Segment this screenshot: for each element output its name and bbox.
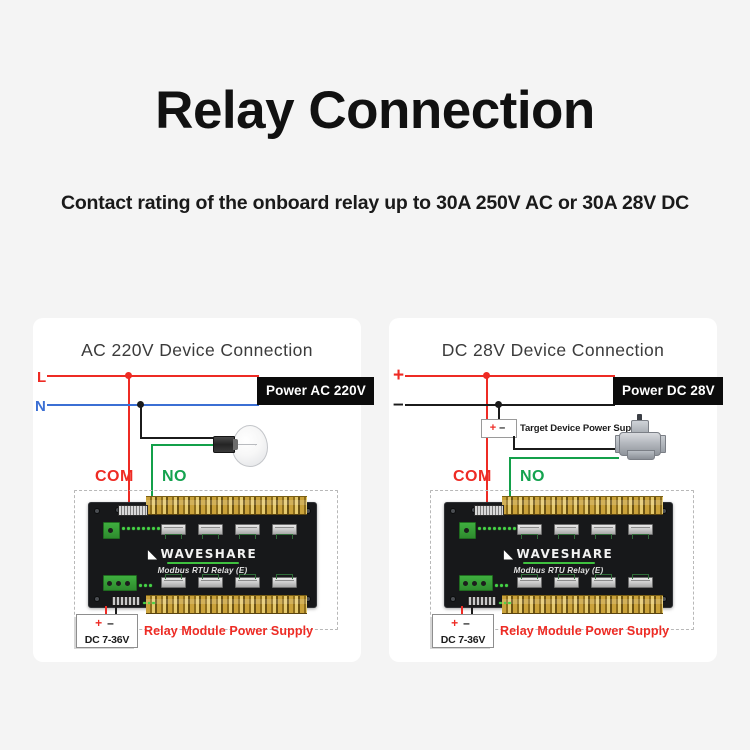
waveshare-logo-icon: ◣ (504, 547, 515, 561)
led-row-bottom (499, 602, 511, 605)
pin-header-bottom (111, 596, 141, 606)
led-row-bottom (143, 602, 155, 605)
board-model: Modbus RTU Relay (E) (89, 566, 316, 575)
board-model: Modbus RTU Relay (E) (445, 566, 672, 575)
relay-board-dc: ◣WAVESHARE Modbus RTU Relay (E) (444, 502, 673, 608)
green-connector-bottom (103, 575, 137, 591)
panel-title-ac: AC 220V Device Connection (33, 340, 361, 361)
supply-caption-dc: Relay Module Power Supply (500, 624, 669, 638)
wire-positive-horizontal (405, 375, 615, 377)
rail-label-n: N (35, 399, 46, 414)
polarity-marks: +– (433, 616, 493, 630)
wire-negative-drop (498, 404, 500, 420)
led-row-mid (139, 584, 152, 587)
terminal-strip-bottom (146, 595, 307, 614)
wire-live-horizontal (47, 375, 259, 377)
solenoid-valve-icon (615, 418, 667, 462)
green-connector-bottom (459, 575, 493, 591)
polarity-marks: +– (77, 616, 137, 630)
supply-caption-ac: Relay Module Power Supply (144, 624, 313, 638)
page-root: Relay Connection Contact rating of the o… (0, 0, 750, 750)
supply-voltage: DC 7-36V (77, 634, 137, 646)
dip-switch (474, 505, 504, 516)
wire-no-to-valve (509, 457, 619, 459)
waveshare-logo-icon: ◣ (148, 547, 159, 561)
wire-target-negative-to-valve (513, 448, 619, 450)
rail-label-minus: – (393, 395, 404, 414)
green-connector-top (459, 522, 476, 539)
terminal-label-no: NO (520, 468, 545, 486)
module-power-connector-dc: +– DC 7-36V (432, 614, 494, 648)
terminal-strip-bottom (502, 595, 663, 614)
terminal-strip-top (146, 496, 307, 515)
target-device-power-connector: +– (481, 419, 517, 438)
terminal-label-com: COM (95, 468, 134, 486)
wire-negative-horizontal (405, 404, 615, 406)
board-brand: ◣WAVESHARE (89, 547, 316, 561)
dip-switch (118, 505, 148, 516)
green-connector-top (103, 522, 120, 539)
panel-ac-220v: AC 220V Device Connection L N Power AC 2… (33, 318, 361, 662)
led-row-mid (495, 584, 508, 587)
page-subtitle: Contact rating of the onboard relay up t… (0, 192, 750, 215)
board-brand: ◣WAVESHARE (445, 547, 672, 561)
wire-neutral-to-bulb (140, 437, 216, 439)
module-power-connector-ac: +– DC 7-36V (76, 614, 138, 648)
led-row-top (478, 527, 516, 530)
led-row-top (122, 527, 160, 530)
power-source-label-dc: Power DC 28V (613, 377, 723, 405)
power-source-label-ac: Power AC 220V (257, 377, 374, 405)
supply-voltage: DC 7-36V (433, 634, 493, 646)
wire-neutral-horizontal (47, 404, 259, 406)
rail-label-l: L (37, 370, 46, 385)
polarity-marks: +– (482, 420, 516, 437)
wire-neutral-drop (140, 404, 142, 438)
pin-header-bottom (467, 596, 497, 606)
light-bulb-icon (213, 425, 268, 467)
panel-title-dc: DC 28V Device Connection (389, 340, 717, 361)
page-title: Relay Connection (0, 84, 750, 137)
wire-no-to-bulb (151, 444, 217, 446)
rail-label-plus: + (393, 366, 404, 385)
relay-board-ac: ◣WAVESHARE Modbus RTU Relay (E) (88, 502, 317, 608)
terminal-label-no: NO (162, 468, 187, 486)
terminal-label-com: COM (453, 468, 492, 486)
panel-dc-28v: DC 28V Device Connection + – Power DC 28… (389, 318, 717, 662)
terminal-strip-top (502, 496, 663, 515)
